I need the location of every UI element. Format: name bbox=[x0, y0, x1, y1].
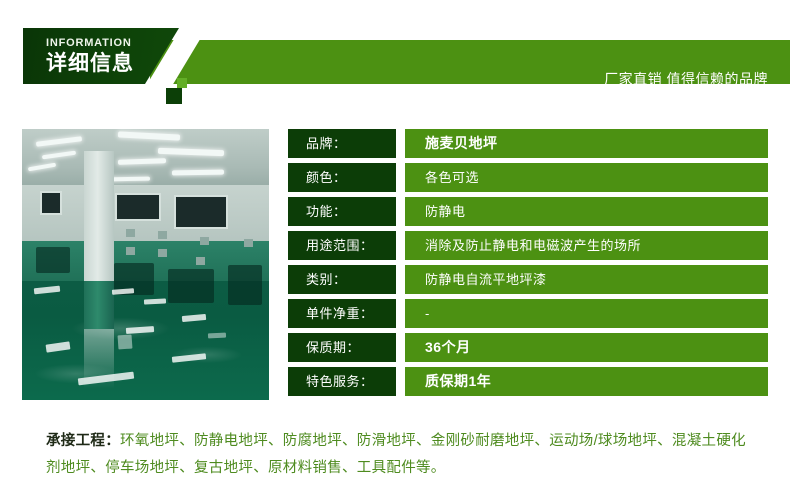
spec-row: 颜色：各色可选 bbox=[288, 163, 768, 192]
spec-row: 保质期：36个月 bbox=[288, 333, 768, 362]
spec-value: - bbox=[405, 299, 768, 328]
spec-label: 特色服务： bbox=[288, 367, 396, 396]
spec-value: 防静电自流平地坪漆 bbox=[405, 265, 768, 294]
photo-wall-outlet bbox=[126, 229, 135, 237]
header-slogan: 厂家直销 值得信赖的品牌 bbox=[604, 69, 768, 89]
spec-row: 单件净重：- bbox=[288, 299, 768, 328]
spec-value: 防静电 bbox=[405, 197, 768, 226]
spec-cell-gap bbox=[396, 129, 405, 158]
spec-cell-gap bbox=[396, 333, 405, 362]
photo-window bbox=[174, 195, 228, 229]
photo-column-base bbox=[84, 281, 114, 329]
spec-cell-gap bbox=[396, 231, 405, 260]
spec-cell-gap bbox=[396, 367, 405, 396]
product-photo-scene bbox=[22, 129, 269, 400]
header-banner: INFORMATION 详细信息 厂家直销 值得信赖的品牌 bbox=[0, 28, 790, 84]
photo-floor-reflection bbox=[228, 265, 262, 305]
photo-window bbox=[115, 193, 161, 221]
spec-label: 颜色： bbox=[288, 163, 396, 192]
footer-lead-label: 承接工程： bbox=[46, 433, 120, 449]
spec-row: 功能：防静电 bbox=[288, 197, 768, 226]
photo-wall-outlet bbox=[158, 231, 167, 239]
footer-body-text: 环氧地坪、防静电地坪、防腐地坪、防滑地坪、金刚砂耐磨地坪、运动场/球场地坪、混凝… bbox=[46, 433, 746, 476]
photo-floor-highlight bbox=[208, 333, 226, 339]
spec-label: 类别： bbox=[288, 265, 396, 294]
photo-floor-reflection bbox=[36, 247, 70, 273]
spec-value: 消除及防止静电和电磁波产生的场所 bbox=[405, 231, 768, 260]
spec-row: 用途范围：消除及防止静电和电磁波产生的场所 bbox=[288, 231, 768, 260]
product-photo bbox=[22, 129, 269, 400]
photo-wall-outlet bbox=[244, 239, 253, 247]
spec-value: 质保期1年 bbox=[405, 367, 768, 396]
photo-lamp bbox=[172, 170, 224, 176]
spec-label: 功能： bbox=[288, 197, 396, 226]
spec-label: 用途范围： bbox=[288, 231, 396, 260]
decor-square-light-icon bbox=[177, 78, 187, 88]
spec-row: 品牌：施麦贝地坪 bbox=[288, 129, 768, 158]
photo-window bbox=[40, 191, 62, 215]
page-root: INFORMATION 详细信息 厂家直销 值得信赖的品牌 bbox=[0, 0, 790, 497]
photo-wall-outlet bbox=[158, 249, 167, 257]
spec-value: 各色可选 bbox=[405, 163, 768, 192]
photo-floor-reflection bbox=[168, 269, 214, 303]
spec-cell-gap bbox=[396, 163, 405, 192]
photo-wall-outlet bbox=[196, 257, 205, 265]
spec-value: 36个月 bbox=[405, 333, 768, 362]
spec-label: 品牌： bbox=[288, 129, 396, 158]
spec-value: 施麦贝地坪 bbox=[405, 129, 768, 158]
decor-square-dark-icon bbox=[166, 88, 182, 104]
spec-row: 类别：防静电自流平地坪漆 bbox=[288, 265, 768, 294]
spec-label: 单件净重： bbox=[288, 299, 396, 328]
photo-lamp bbox=[108, 177, 150, 182]
spec-table: 品牌：施麦贝地坪颜色：各色可选功能：防静电用途范围：消除及防止静电和电磁波产生的… bbox=[288, 129, 768, 396]
spec-cell-gap bbox=[396, 299, 405, 328]
spec-row: 特色服务：质保期1年 bbox=[288, 367, 768, 396]
spec-cell-gap bbox=[396, 197, 405, 226]
photo-floor-highlight bbox=[118, 335, 133, 350]
spec-cell-gap bbox=[396, 265, 405, 294]
photo-wall-outlet bbox=[200, 237, 209, 245]
footer-scope-text: 承接工程：环氧地坪、防静电地坪、防腐地坪、防滑地坪、金刚砂耐磨地坪、运动场/球场… bbox=[46, 428, 756, 482]
photo-wall-outlet bbox=[126, 247, 135, 255]
spec-label: 保质期： bbox=[288, 333, 396, 362]
